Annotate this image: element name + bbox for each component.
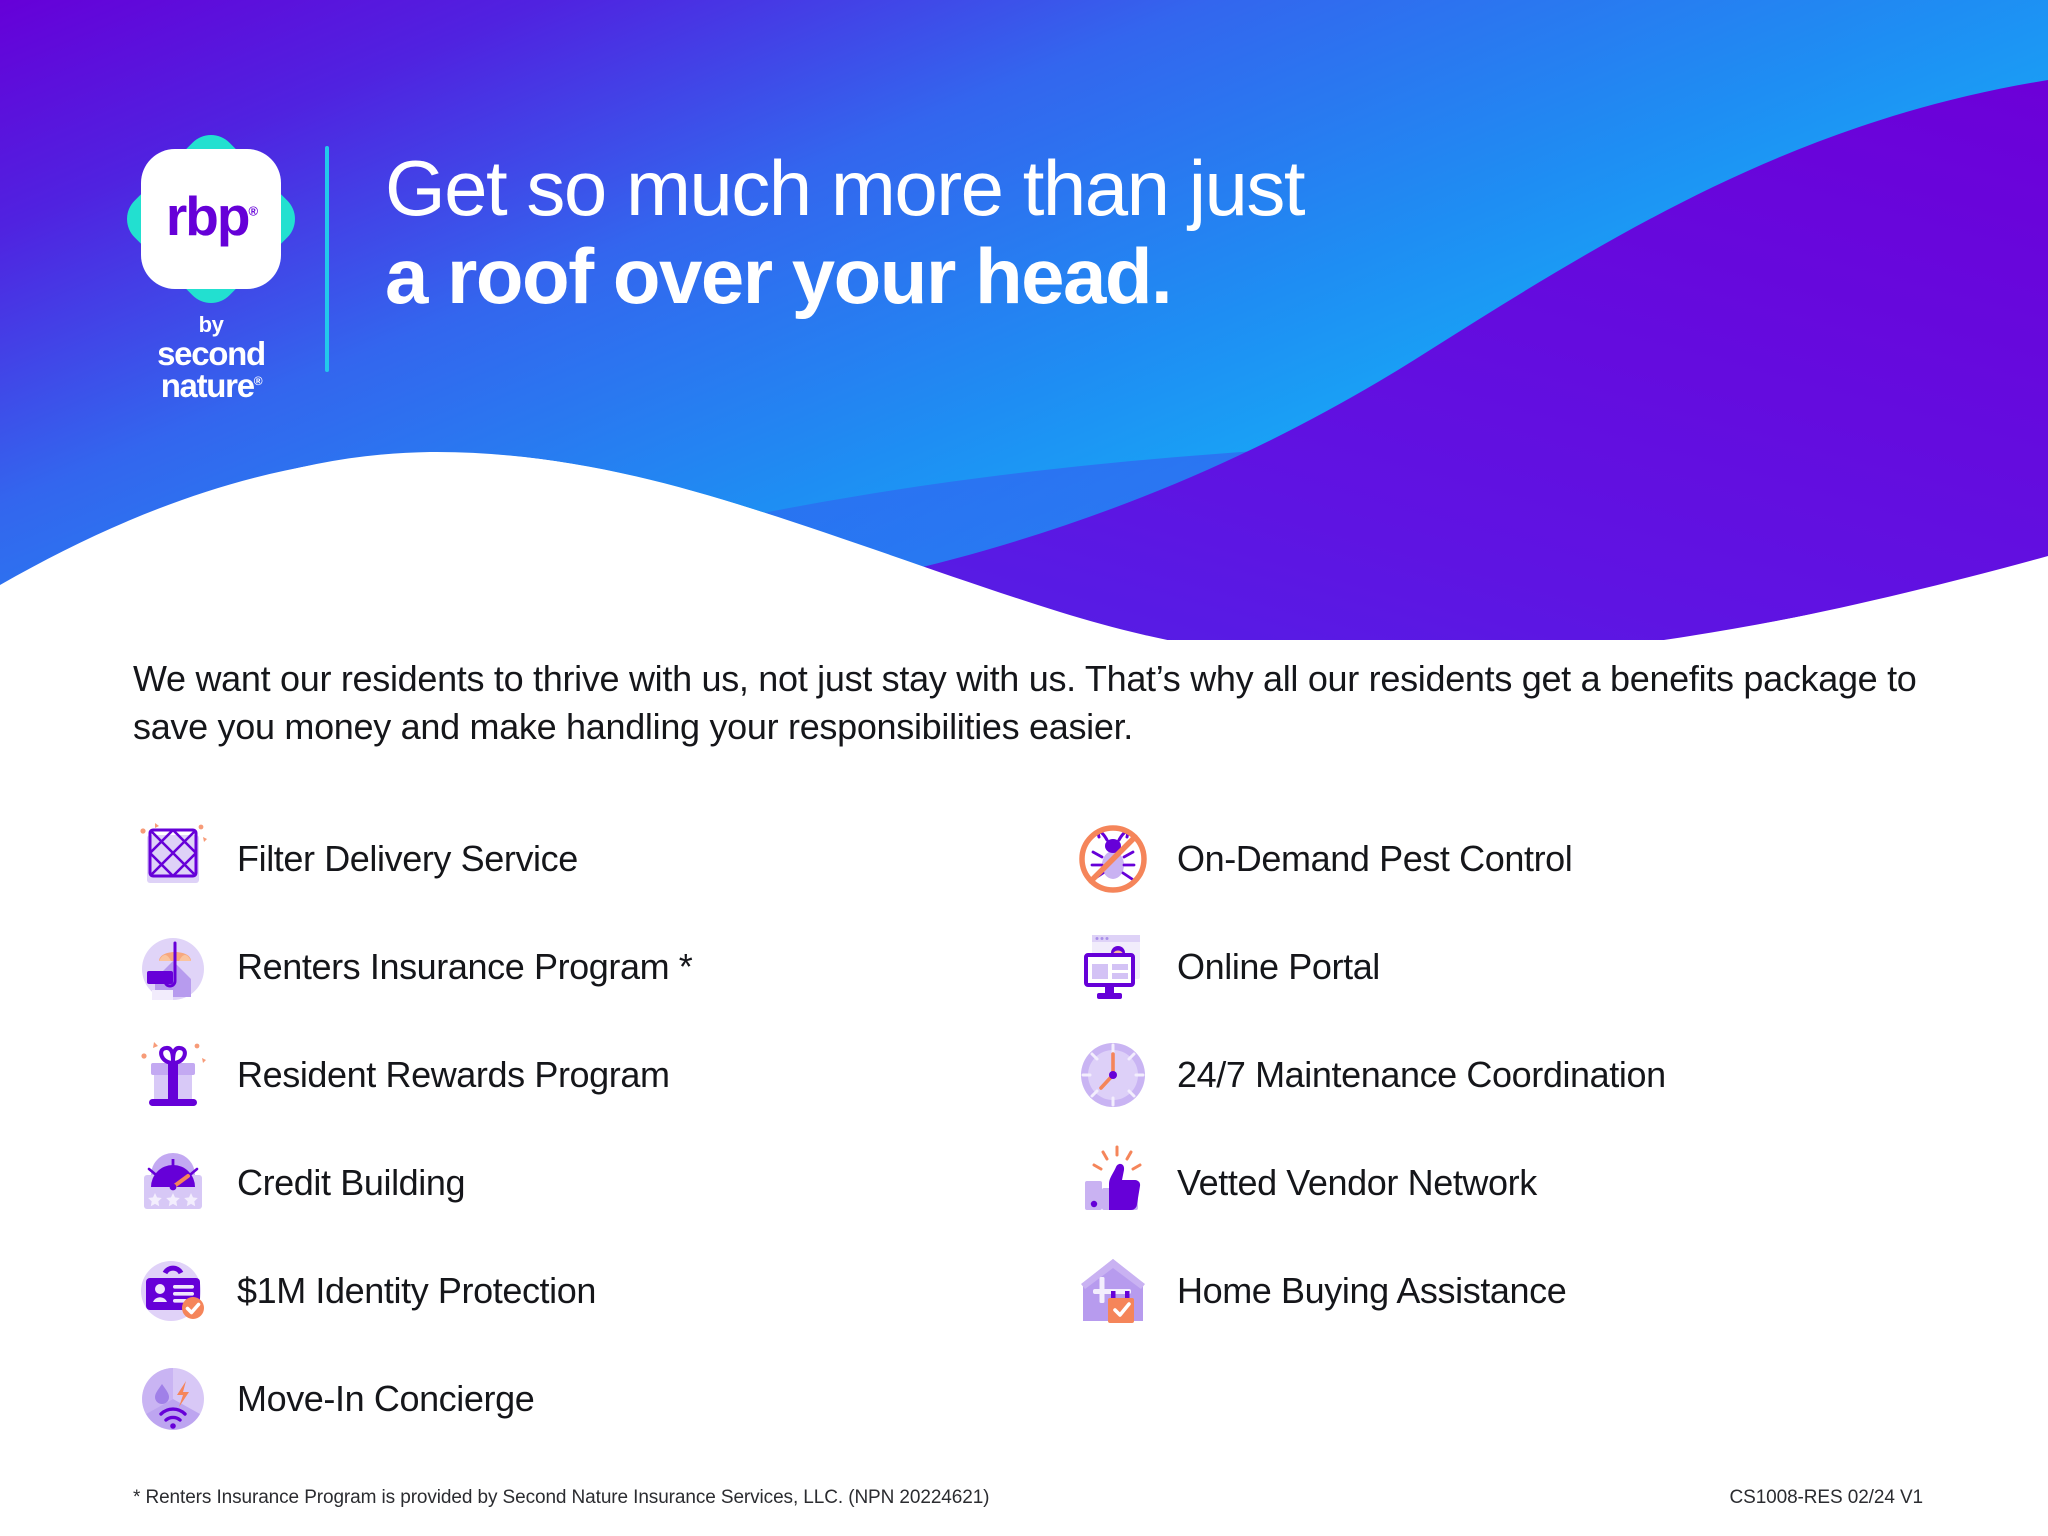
monitor-user-icon [1073, 927, 1153, 1007]
utilities-circle-icon [133, 1359, 213, 1439]
benefit-label: $1M Identity Protection [237, 1270, 596, 1312]
benefit-label: Move-In Concierge [237, 1378, 534, 1420]
brand-logo: rbp® by second nature® [116, 130, 306, 380]
benefit-item-maintenance-coordination: 24/7 Maintenance Coordination [1073, 1021, 1933, 1129]
thumbs-up-icon [1073, 1143, 1153, 1223]
byline-nature: nature® [116, 370, 306, 402]
benefit-label: Vetted Vendor Network [1177, 1162, 1537, 1204]
benefit-item-resident-rewards-program: Resident Rewards Program [133, 1021, 1073, 1129]
id-badge-check-icon [133, 1251, 213, 1331]
umbrella-house-icon [133, 927, 213, 1007]
rbp-logo-mark: rbp® [122, 130, 300, 308]
benefit-item-renters-insurance-program: Renters Insurance Program * [133, 913, 1073, 1021]
benefit-item-online-portal: Online Portal [1073, 913, 1933, 1021]
benefit-label: Home Buying Assistance [1177, 1270, 1566, 1312]
benefit-item-move-in-concierge: Move-In Concierge [133, 1345, 1073, 1453]
gift-icon [133, 1035, 213, 1115]
benefit-item-vetted-vendor-network: Vetted Vendor Network [1073, 1129, 1933, 1237]
benefit-label: Renters Insurance Program * [237, 946, 692, 988]
registered-mark-icon: ® [249, 203, 257, 218]
benefits-list: Filter Delivery Service Renters Insuranc… [133, 805, 1933, 1453]
logo-plate: rbp® [141, 149, 281, 289]
logo-byline: by second nature® [116, 312, 306, 401]
byline-second: second [116, 338, 306, 370]
benefit-item-pest-control: On-Demand Pest Control [1073, 805, 1933, 913]
benefit-item-credit-building: Credit Building [133, 1129, 1073, 1237]
byline-by: by [199, 312, 224, 337]
benefit-item-identity-protection: $1M Identity Protection [133, 1237, 1073, 1345]
benefit-item-home-buying-assistance: Home Buying Assistance [1073, 1237, 1933, 1345]
benefit-label: Online Portal [1177, 946, 1380, 988]
benefit-label: Credit Building [237, 1162, 465, 1204]
hero-headline: Get so much more than just a roof over y… [385, 148, 1585, 317]
intro-paragraph: We want our residents to thrive with us,… [133, 655, 1923, 750]
benefit-label: On-Demand Pest Control [1177, 838, 1572, 880]
headline-line-2: a roof over your head. [385, 236, 1585, 316]
byline-registered-mark-icon: ® [254, 374, 262, 388]
benefit-label: Resident Rewards Program [237, 1054, 670, 1096]
no-pest-icon [1073, 819, 1153, 899]
clock-icon [1073, 1035, 1153, 1115]
headline-line-1: Get so much more than just [385, 148, 1585, 228]
benefit-label: 24/7 Maintenance Coordination [1177, 1054, 1666, 1096]
hero-vertical-divider [325, 146, 329, 372]
benefit-item-filter-delivery-service: Filter Delivery Service [133, 805, 1073, 913]
filter-icon [133, 819, 213, 899]
benefits-column-left: Filter Delivery Service Renters Insuranc… [133, 805, 1073, 1453]
benefit-label: Filter Delivery Service [237, 838, 578, 880]
hero-banner: rbp® by second nature® Get so much more … [0, 0, 2048, 640]
document-code: CS1008-RES 02/24 V1 [1730, 1487, 1924, 1509]
benefits-column-right: On-Demand Pest Control [1073, 805, 1933, 1453]
credit-gauge-icon [133, 1143, 213, 1223]
house-sign-icon [1073, 1251, 1153, 1331]
logo-wordmark: rbp® [166, 189, 256, 244]
footnote-text: * Renters Insurance Program is provided … [133, 1487, 989, 1509]
